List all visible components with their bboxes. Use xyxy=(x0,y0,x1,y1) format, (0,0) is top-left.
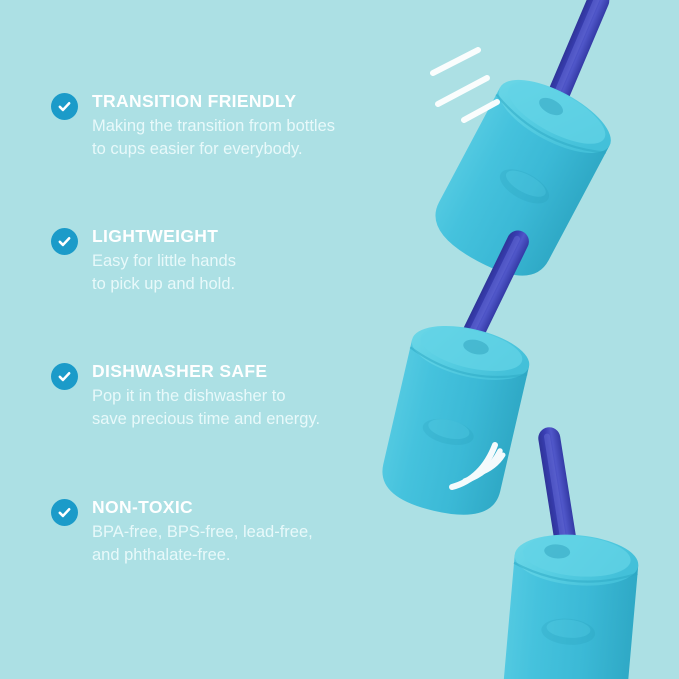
cup-bottom-body xyxy=(500,555,638,679)
cup-top xyxy=(423,0,673,290)
motion-lines-top xyxy=(433,50,497,120)
straw-top xyxy=(533,0,613,135)
feature-title: NON-TOXIC xyxy=(92,497,391,518)
cup-middle-logo xyxy=(420,414,476,449)
feature-description: BPA-free, BPS-free, lead-free, and phtha… xyxy=(92,521,391,568)
feature-title: DISHWASHER SAFE xyxy=(92,361,391,382)
check-circle-icon xyxy=(51,228,78,255)
feature-text-block: DISHWASHER SAFE Pop it in the dishwasher… xyxy=(92,361,391,431)
check-circle-icon xyxy=(51,363,78,390)
feature-title: TRANSITION FRIENDLY xyxy=(92,91,391,112)
feature-description: Pop it in the dishwasher to save preciou… xyxy=(92,385,391,432)
feature-description-line: Easy for little hands xyxy=(92,250,391,273)
cup-middle-lid xyxy=(407,316,535,390)
feature-description: Easy for little hands to pick up and hol… xyxy=(92,250,391,297)
cup-middle xyxy=(376,210,559,524)
infographic-canvas: TRANSITION FRIENDLY Making the transitio… xyxy=(0,0,679,679)
feature-text-block: TRANSITION FRIENDLY Making the transitio… xyxy=(92,91,391,161)
straw-bottom xyxy=(537,426,582,578)
feature-description-line: to pick up and hold. xyxy=(92,273,391,296)
straw-middle xyxy=(447,227,533,371)
feature-text-block: NON-TOXIC BPA-free, BPS-free, lead-free,… xyxy=(92,497,391,567)
cup-bottom-logo xyxy=(540,616,596,647)
cup-bottom-lid xyxy=(513,530,641,591)
feature-description-line: and phthalate-free. xyxy=(92,544,391,567)
feature-item-non-toxic: NON-TOXIC BPA-free, BPS-free, lead-free,… xyxy=(51,497,391,567)
feature-description-line: to cups easier for everybody. xyxy=(92,138,391,161)
feature-description-line: BPA-free, BPS-free, lead-free, xyxy=(92,521,391,544)
feature-item-dishwasher-safe: DISHWASHER SAFE Pop it in the dishwasher… xyxy=(51,361,391,431)
feature-text-block: LIGHTWEIGHT Easy for little hands to pic… xyxy=(92,226,391,296)
motion-lines-bottom xyxy=(452,445,503,487)
cup-top-logo xyxy=(495,162,555,210)
check-circle-icon xyxy=(51,93,78,120)
feature-description: Making the transition from bottles to cu… xyxy=(92,115,391,162)
cup-top-lid xyxy=(488,65,621,167)
feature-description-line: Making the transition from bottles xyxy=(92,115,391,138)
feature-title: LIGHTWEIGHT xyxy=(92,226,391,247)
cup-bottom xyxy=(500,423,650,679)
feature-list: TRANSITION FRIENDLY Making the transitio… xyxy=(0,0,400,679)
feature-description-line: save precious time and energy. xyxy=(92,408,391,431)
check-circle-icon xyxy=(51,499,78,526)
cup-top-body xyxy=(423,87,609,290)
feature-item-transition-friendly: TRANSITION FRIENDLY Making the transitio… xyxy=(51,91,391,161)
feature-item-lightweight: LIGHTWEIGHT Easy for little hands to pic… xyxy=(51,226,391,296)
feature-description-line: Pop it in the dishwasher to xyxy=(92,385,391,408)
